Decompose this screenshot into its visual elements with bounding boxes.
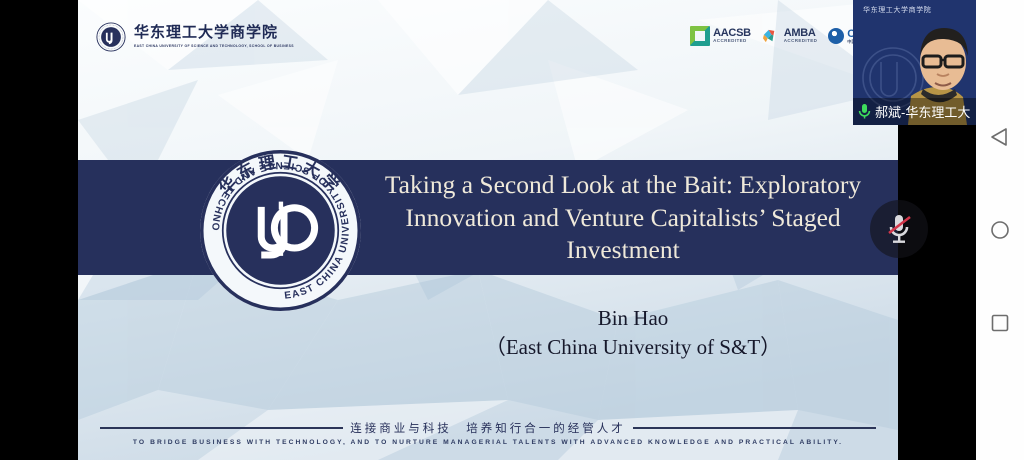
amba-accreditation: AMBA ACCREDITED — [762, 28, 818, 45]
svg-text:华东理工大学商学院: 华东理工大学商学院 — [863, 5, 931, 14]
author-affiliation: （East China University of S&T） — [378, 334, 888, 360]
business-school-logo: 华东理工大学商学院 EAST CHINA UNIVERSITY OF SCIEN… — [96, 22, 294, 52]
school-name-cn: 华东理工大学商学院 — [134, 26, 294, 42]
self-video-thumbnail[interactable]: 华东理工大学商学院 郝斌-华东理工大 — [853, 0, 976, 125]
presentation-title: Taking a Second Look at the Bait: Explor… — [358, 162, 888, 274]
device-screen: 华东理工大学商学院 EAST CHINA UNIVERSITY OF SCIEN… — [0, 0, 1024, 460]
android-navigation-bar — [976, 0, 1024, 460]
footer-slogan-cn: 连接商业与科技 培养知行合一的经管人才 — [350, 420, 626, 436]
back-triangle-icon — [989, 126, 1011, 148]
aacsb-logo-icon — [690, 26, 710, 46]
recents-button[interactable] — [987, 310, 1013, 336]
microphone-muted-icon — [884, 212, 914, 246]
back-button[interactable] — [987, 124, 1013, 150]
microphone-active-icon — [858, 103, 871, 120]
school-name-en: EAST CHINA UNIVERSITY OF SCIENCE AND TEC… — [134, 44, 294, 48]
home-circle-icon — [989, 219, 1011, 241]
self-view-participant-name: 郝斌-华东理工大 — [875, 102, 970, 121]
recents-square-icon — [989, 312, 1011, 334]
home-button[interactable] — [987, 217, 1013, 243]
footer-rule-right — [633, 427, 876, 430]
shared-slide[interactable]: 华东理工大学商学院 EAST CHINA UNIVERSITY OF SCIEN… — [78, 0, 898, 460]
mute-toggle-button[interactable] — [870, 200, 928, 258]
slide-footer: 连接商业与科技 培养知行合一的经管人才 TO BRIDGE BUSINESS W… — [78, 408, 898, 460]
amba-logo-icon — [762, 28, 781, 45]
author-block: Bin Hao （East China University of S&T） — [378, 305, 888, 361]
aacsb-sublabel: ACCREDITED — [713, 39, 751, 44]
slide-header: 华东理工大学商学院 EAST CHINA UNIVERSITY OF SCIEN… — [78, 0, 898, 86]
aacsb-accreditation: AACSB ACCREDITED — [690, 26, 751, 46]
ecust-university-seal-icon: EAST CHINA UNIVERSITY OF SCIENCE AND TEC… — [193, 143, 368, 318]
camea-logo-icon — [828, 28, 844, 44]
author-name: Bin Hao — [378, 305, 888, 331]
footer-slogan-en: TO BRIDGE BUSINESS WITH TECHNOLOGY, AND … — [78, 439, 898, 446]
self-view-name-bar: 郝斌-华东理工大 — [853, 98, 976, 125]
footer-rule-left — [100, 427, 343, 430]
accreditation-logos: AACSB ACCREDITED AMBA ACCREDITED — [690, 26, 878, 46]
amba-sublabel: ACCREDITED — [784, 39, 818, 44]
ecust-seal-icon — [96, 22, 126, 52]
